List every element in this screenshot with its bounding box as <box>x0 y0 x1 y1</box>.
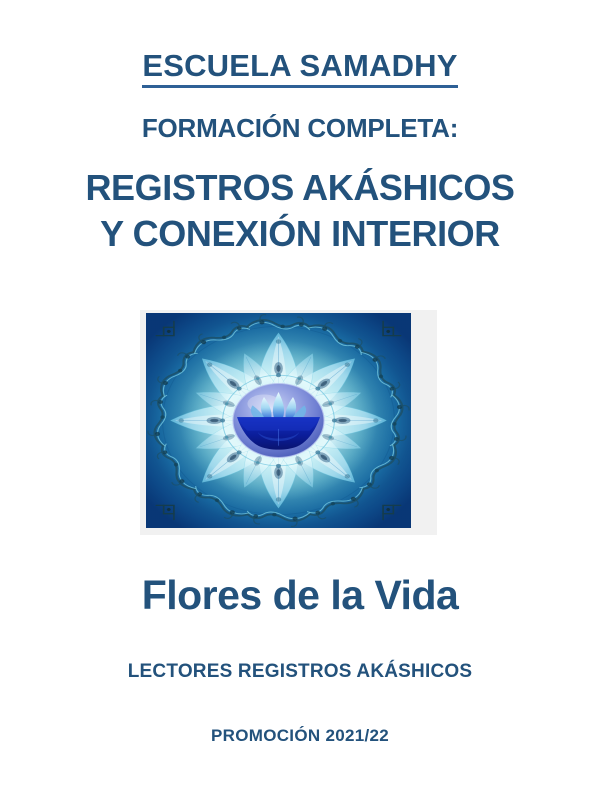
page-title-line-1: REGISTROS AKÁSHICOS <box>0 165 600 211</box>
page-title: REGISTROS AKÁSHICOS Y CONEXIÓN INTERIOR <box>0 165 600 257</box>
brand-name: Flores de la Vida <box>0 572 600 619</box>
mandala-illustration <box>146 313 411 528</box>
readers-line: LECTORES REGISTROS AKÁSHICOS <box>0 661 600 683</box>
promotion-line: PROMOCIÓN 2021/22 <box>0 726 600 746</box>
cover-page: ESCUELA SAMADHY FORMACIÓN COMPLETA: REGI… <box>0 0 600 800</box>
page-title-line-2: Y CONEXIÓN INTERIOR <box>0 211 600 257</box>
school-name: ESCUELA SAMADHY <box>0 50 600 88</box>
course-subtitle: FORMACIÓN COMPLETA: <box>0 113 600 144</box>
school-name-text: ESCUELA SAMADHY <box>142 50 457 88</box>
mandala-image <box>146 313 411 528</box>
